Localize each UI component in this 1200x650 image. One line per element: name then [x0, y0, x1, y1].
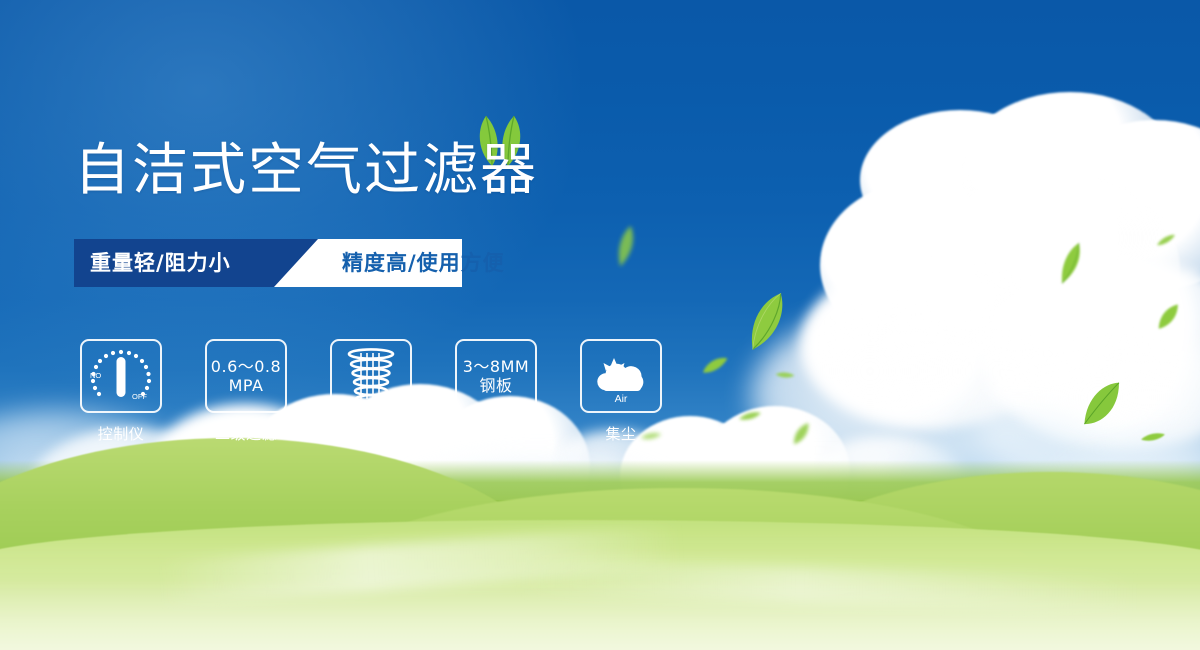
feature-box	[330, 339, 412, 413]
feature-item-steel[interactable]: 3〜8MM 钢板 钢结构强度	[455, 339, 537, 444]
pressure-text-icon: 0.6〜0.8 MPA	[211, 357, 281, 395]
feature-box: 0.6〜0.8 MPA	[205, 339, 287, 413]
subtitle-bar: 重量轻/阻力小 精度高/使用方便	[74, 239, 462, 287]
dial-off-label: OFF	[132, 392, 147, 401]
dial-on-label: NO	[90, 371, 101, 380]
steel-plate-text-icon: 3〜8MM 钢板	[463, 357, 529, 395]
feature-box: 3〜8MM 钢板	[455, 339, 537, 413]
feature-item-control-dial[interactable]: NO OFF 控制仪	[80, 339, 162, 444]
feature-label: 集尘	[580, 423, 662, 444]
page-title: 自洁式空气过滤器	[74, 143, 538, 199]
control-dial-icon: NO OFF	[86, 345, 156, 407]
subtitle-left-text: 重量轻/阻力小	[90, 239, 231, 287]
feature-item-blowback[interactable]: 强力反吹	[330, 339, 412, 444]
filter-coil-icon	[343, 347, 399, 405]
feature-label: 控制仪	[80, 423, 162, 444]
feature-box: Air	[580, 339, 662, 413]
banner-content: 自洁式空气过滤器 重量轻/阻力小 精度高/使用方便	[0, 0, 1200, 650]
feature-label: 钢结构强度	[455, 423, 537, 444]
feature-label: 强力反吹	[330, 423, 412, 444]
feature-item-pressure[interactable]: 0.6〜0.8 MPA 二级过滤	[205, 339, 287, 444]
cloud-air-label: Air	[615, 393, 628, 405]
subtitle-right-text: 精度高/使用方便	[342, 239, 505, 287]
product-banner: 自洁式空气过滤器 重量轻/阻力小 精度高/使用方便	[0, 0, 1200, 650]
feature-box: NO OFF	[80, 339, 162, 413]
feature-strip: NO OFF 控制仪 0.6〜0.8 MPA 二级过滤	[80, 339, 662, 444]
feature-item-dust-collection[interactable]: Air 集尘	[580, 339, 662, 444]
cloud-air-icon: Air	[588, 346, 654, 406]
feature-label: 二级过滤	[205, 423, 287, 444]
